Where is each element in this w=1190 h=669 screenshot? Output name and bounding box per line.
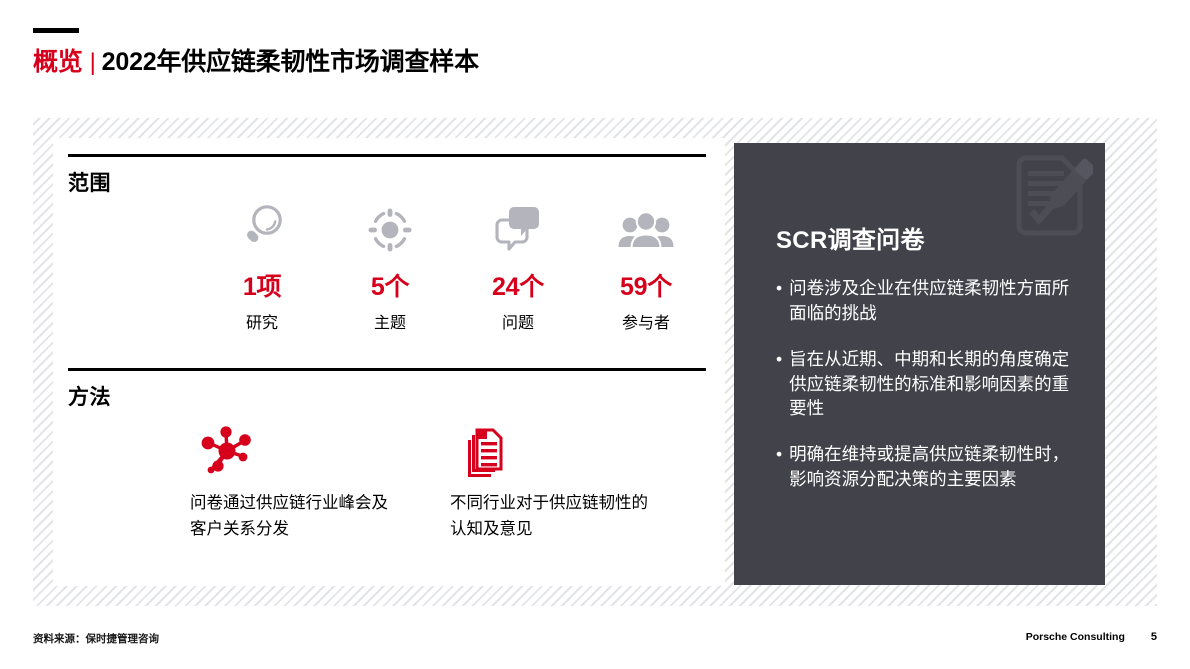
page-title-block: 概览 | 2022年供应链柔韧性市场调查样本	[33, 28, 933, 78]
method-item: 不同行业对于供应链韧性的认知及意见	[450, 419, 710, 542]
panel-title: SCR调查问卷	[776, 220, 925, 255]
stat-item: 59个 参与者	[582, 199, 710, 333]
stat-value: 59个	[582, 267, 710, 303]
target-icon	[326, 199, 454, 255]
bullet-text: 问卷涉及企业在供应链柔韧性方面所面临的挑战	[789, 276, 1076, 326]
title-accent-rule	[33, 28, 79, 33]
stat-value: 5个	[326, 267, 454, 303]
form-pencil-icon	[1007, 151, 1093, 246]
bullet-marker: •	[776, 276, 782, 326]
title-main-text: 2022年供应链柔韧性市场调查样本	[102, 42, 479, 78]
title-kicker: 概览	[33, 42, 83, 78]
network-hub-icon	[190, 419, 450, 481]
stat-value: 1项	[198, 267, 326, 303]
content-card: 范围 1项 研究	[53, 138, 725, 586]
magnifier-icon	[198, 199, 326, 255]
stat-item: 5个 主题	[326, 199, 454, 333]
method-section-rule	[68, 368, 706, 371]
method-item: 问卷通过供应链行业峰会及客户关系分发	[190, 419, 450, 542]
method-section-heading: 方法	[68, 381, 710, 411]
bullet-marker: •	[776, 442, 782, 492]
method-text: 不同行业对于供应链韧性的认知及意见	[450, 491, 655, 542]
documents-icon	[450, 419, 710, 481]
page-title: 概览 | 2022年供应链柔韧性市场调查样本	[33, 42, 933, 78]
footer-brand: Porsche Consulting	[1026, 631, 1125, 643]
method-items-row: 问卷通过供应链行业峰会及客户关系分发	[68, 419, 710, 542]
scope-section: 范围 1项 研究	[68, 154, 710, 333]
footer-right-group: Porsche Consulting 5	[1026, 631, 1157, 643]
stat-label: 参与者	[582, 309, 710, 333]
footer-page-number: 5	[1151, 631, 1157, 643]
scope-section-rule	[68, 154, 706, 157]
method-section: 方法	[68, 368, 710, 542]
stat-label: 问题	[454, 309, 582, 333]
panel-bullet-item: • 明确在维持或提高供应链柔韧性时，影响资源分配决策的主要因素	[776, 442, 1076, 492]
speech-bubble-icon	[454, 199, 582, 255]
panel-bullet-list: • 问卷涉及企业在供应链柔韧性方面所面临的挑战 • 旨在从近期、中期和长期的角度…	[776, 276, 1076, 513]
panel-bullet-item: • 旨在从近期、中期和长期的角度确定供应链柔韧性的标准和影响因素的重要性	[776, 347, 1076, 422]
title-separator: |	[90, 49, 96, 77]
bullet-text: 旨在从近期、中期和长期的角度确定供应链柔韧性的标准和影响因素的重要性	[789, 347, 1076, 422]
stat-item: 24个 问题	[454, 199, 582, 333]
bullet-text: 明确在维持或提高供应链柔韧性时，影响资源分配决策的主要因素	[789, 442, 1076, 492]
people-group-icon	[582, 199, 710, 255]
stat-value: 24个	[454, 267, 582, 303]
footer-source: 资料来源：保时捷管理咨询	[33, 631, 159, 646]
stat-label: 主题	[326, 309, 454, 333]
method-text: 问卷通过供应链行业峰会及客户关系分发	[190, 491, 395, 542]
scope-stats-row: 1项 研究	[68, 199, 710, 333]
scope-section-heading: 范围	[68, 167, 710, 197]
scr-survey-panel: SCR调查问卷 • 问卷涉及企业在供应链柔韧性方面所面临的挑战 • 旨在从近期、…	[734, 143, 1105, 585]
stat-label: 研究	[198, 309, 326, 333]
bullet-marker: •	[776, 347, 782, 422]
stat-item: 1项 研究	[198, 199, 326, 333]
panel-bullet-item: • 问卷涉及企业在供应链柔韧性方面所面临的挑战	[776, 276, 1076, 326]
